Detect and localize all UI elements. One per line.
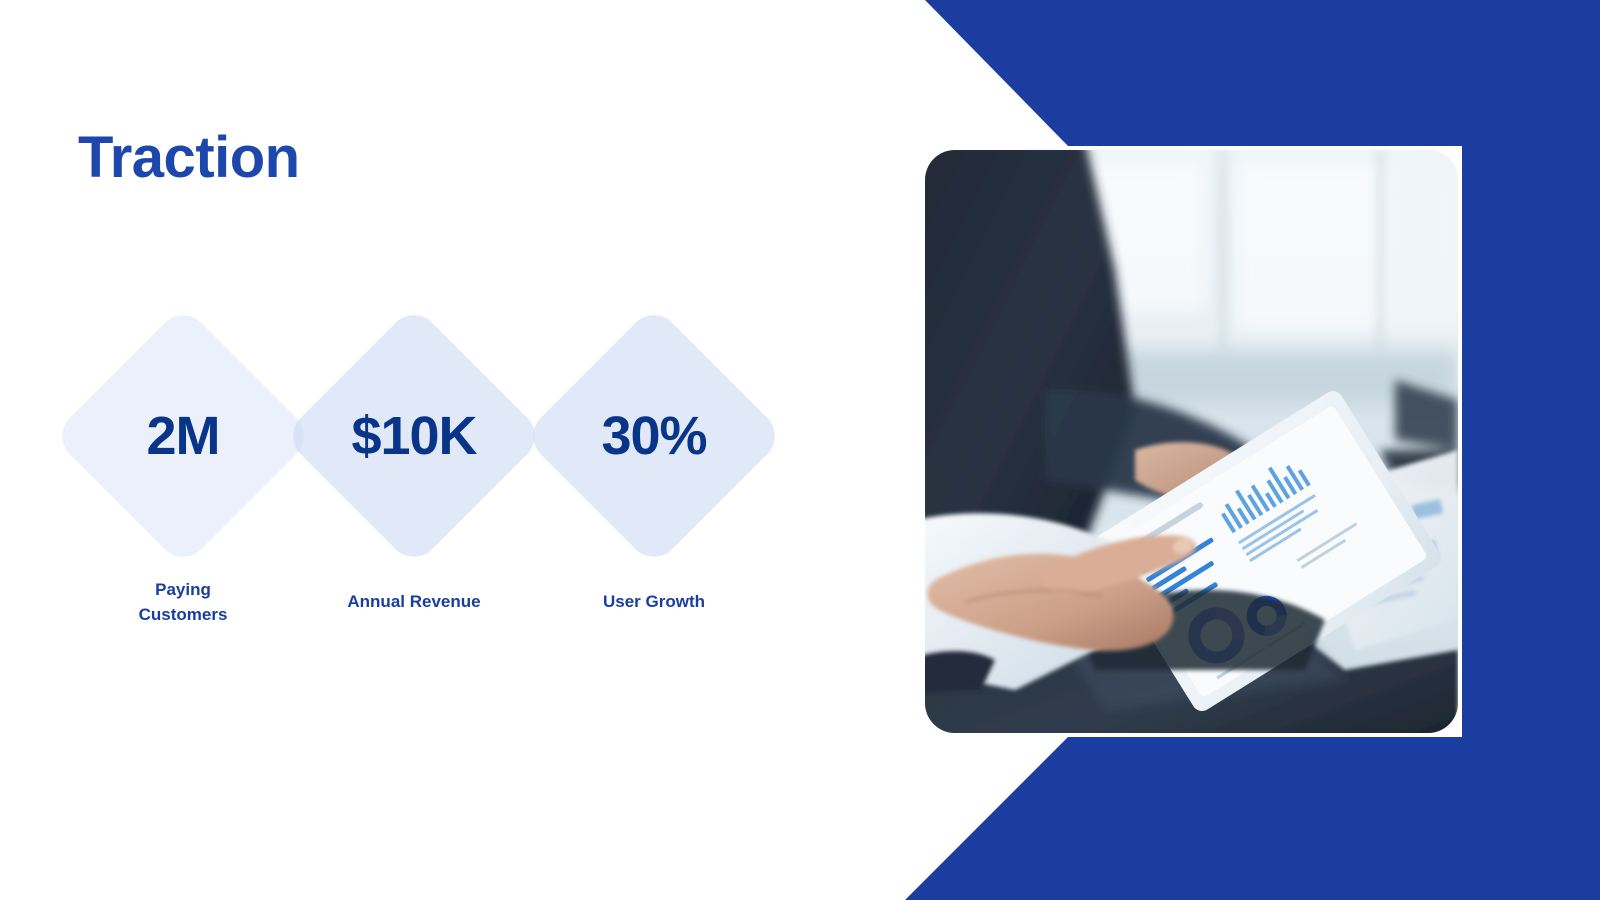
page-title: Traction (78, 126, 300, 190)
slide: Traction 2M Paying Customers $10K Annual… (0, 0, 1600, 900)
stat-label-line: User Growth (511, 589, 797, 614)
stat-card-user-growth[interactable]: 30% (511, 293, 797, 579)
photo-illustration (925, 150, 1458, 733)
stats-row: 2M Paying Customers $10K Annual Revenue … (0, 293, 900, 583)
left-content-column: Traction 2M Paying Customers $10K Annual… (0, 0, 900, 900)
photo-card (925, 150, 1458, 733)
stat-label-user-growth: User Growth (511, 589, 797, 614)
stat-value: 30% (511, 406, 797, 466)
